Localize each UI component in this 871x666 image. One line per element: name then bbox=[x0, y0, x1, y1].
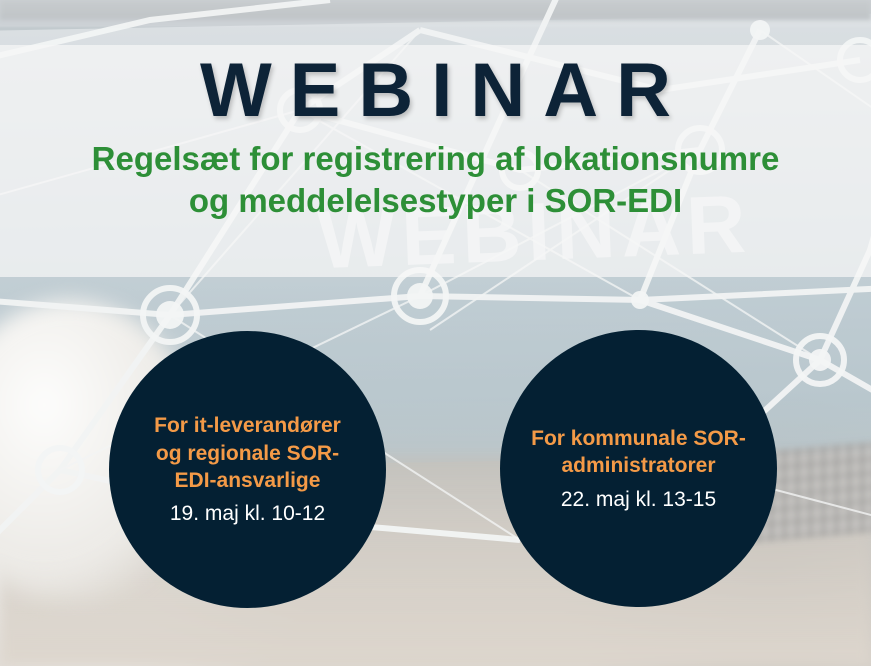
page-title: WEBINAR bbox=[182, 50, 689, 132]
session-time: 19. maj kl. 10-12 bbox=[170, 501, 325, 526]
subtitle-line-2: og meddelelsestyper i SOR-EDI bbox=[189, 180, 682, 222]
laptop-bezel-top bbox=[0, 0, 871, 20]
session-heading: For kommunale SOR- administratorer bbox=[531, 425, 746, 480]
session-time: 22. maj kl. 13-15 bbox=[561, 487, 716, 512]
session-circle-municipal-admins: For kommunale SOR- administratorer 22. m… bbox=[500, 330, 777, 607]
session-circle-it-suppliers: For it-leverandører og regionale SOR- ED… bbox=[109, 331, 386, 608]
webinar-poster: WEBINAR bbox=[0, 0, 871, 666]
session-heading: For it-leverandører og regionale SOR- ED… bbox=[154, 412, 341, 494]
headline-group: WEBINAR Regelsæt for registrering af lok… bbox=[0, 45, 871, 277]
subtitle-line-1: Regelsæt for registrering af lokationsnu… bbox=[92, 138, 780, 180]
